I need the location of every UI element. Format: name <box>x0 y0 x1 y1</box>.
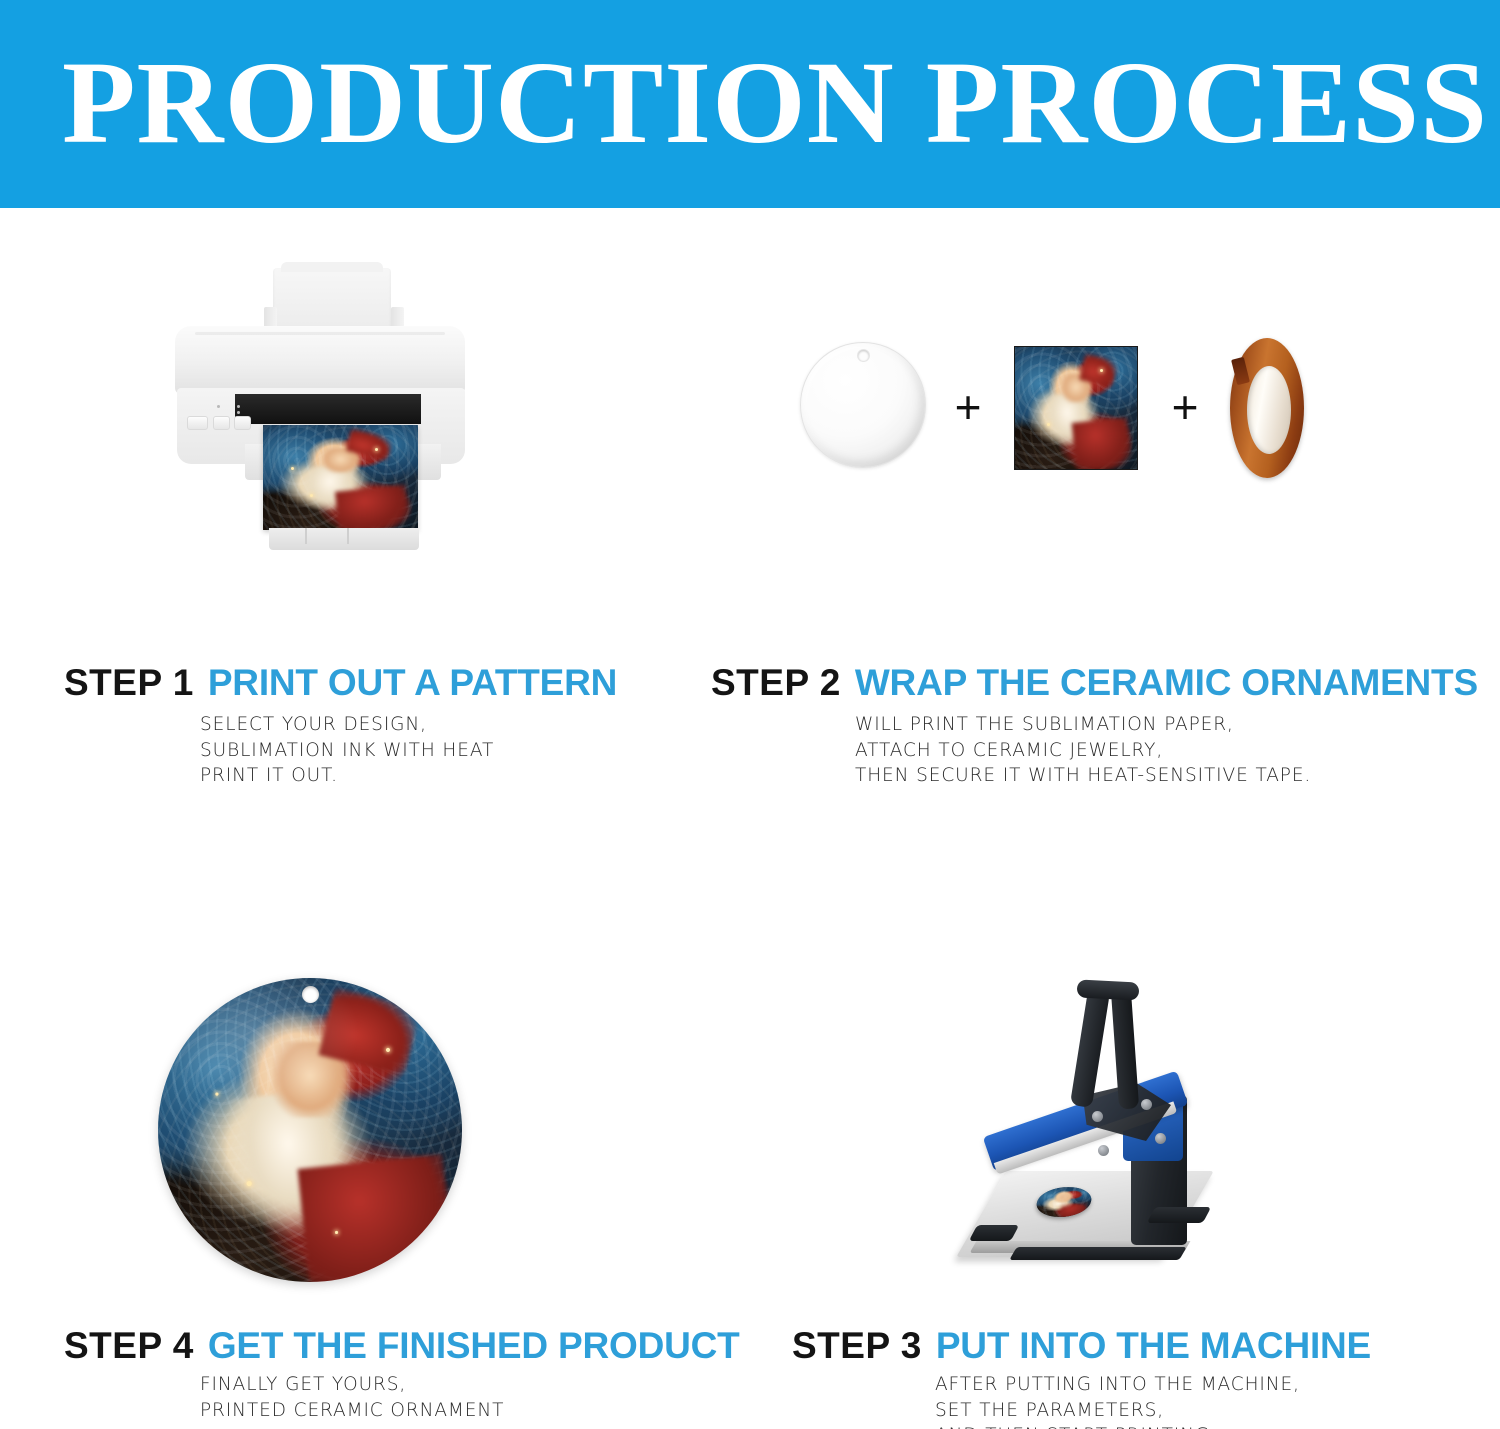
press-bolt-2 <box>1141 1099 1152 1110</box>
plus-icon-2: + <box>1168 390 1202 424</box>
step-2-heading: STEP 2WRAP THE CERAMIC ORNAMENTS <box>711 662 1478 704</box>
step-2-description: WILL PRINT THE SUBLIMATION PAPER, ATTACH… <box>855 712 1311 789</box>
press-foot-right <box>1147 1207 1212 1223</box>
page-title: PRODUCTION PROCESS <box>62 44 1470 162</box>
step-1-number: STEP 1 <box>64 662 194 703</box>
printer-button-2 <box>213 416 230 430</box>
step-3-number: STEP 3 <box>792 1325 922 1366</box>
printer-led-3 <box>237 411 240 414</box>
printer-front-tray-extension <box>269 528 419 550</box>
press-base-rail <box>1009 1247 1187 1260</box>
step-4-number: STEP 4 <box>64 1325 194 1366</box>
printer-led-2 <box>237 405 240 408</box>
step-3-title: PUT INTO THE MACHINE <box>936 1325 1371 1366</box>
blank-ceramic-ornament <box>800 342 926 468</box>
printer-paper-tray <box>273 268 391 330</box>
press-foot-left <box>969 1225 1020 1241</box>
ornament-on-press-bed <box>1033 1187 1096 1217</box>
press-bolt-3 <box>1155 1133 1166 1144</box>
printer-button-3 <box>234 416 251 430</box>
sublimation-artwork-square <box>1014 346 1138 470</box>
heat-press-illustration <box>955 975 1275 1287</box>
press-bolt-4 <box>1098 1145 1109 1156</box>
step-4-description: FINALLY GET YOURS, PRINTED CERAMIC ORNAM… <box>200 1372 504 1423</box>
plus-icon-1: + <box>951 390 985 424</box>
production-process-infographic: PRODUCTION PROCESS + <box>0 0 1500 1429</box>
step-2-number: STEP 2 <box>711 662 841 703</box>
step-3-heading: STEP 3PUT INTO THE MACHINE <box>792 1325 1371 1367</box>
press-bolt-1 <box>1092 1111 1103 1122</box>
step-2-title: WRAP THE CERAMIC ORNAMENTS <box>855 662 1478 703</box>
printer-output-slot <box>235 394 421 424</box>
printer-body-upper <box>175 326 465 394</box>
step-4-heading: STEP 4GET THE FINISHED PRODUCT <box>64 1325 740 1367</box>
printed-santa-sheet <box>263 425 418 530</box>
ornament-hanging-hole <box>858 350 869 361</box>
printer-power-button <box>187 416 208 430</box>
step-1-heading: STEP 1PRINT OUT A PATTERN <box>64 662 617 704</box>
finished-ornament-illustration <box>158 978 462 1282</box>
step-3-description: AFTER PUTTING INTO THE MACHINE, SET THE … <box>935 1372 1300 1429</box>
step-1-title: PRINT OUT A PATTERN <box>208 662 617 703</box>
printer-led-1 <box>217 405 220 408</box>
step-4-title: GET THE FINISHED PRODUCT <box>208 1325 740 1366</box>
step-1-description: SELECT YOUR DESIGN, SUBLIMATION INK WITH… <box>200 712 494 789</box>
materials-combo-illustration: + + <box>786 330 1306 510</box>
press-handle-grip <box>1077 979 1140 1000</box>
press-handle-arm-left <box>1070 988 1110 1108</box>
heat-resistant-tape-roll <box>1230 338 1304 478</box>
printer-illustration <box>163 252 503 572</box>
finished-ornament-hole <box>302 986 319 1003</box>
